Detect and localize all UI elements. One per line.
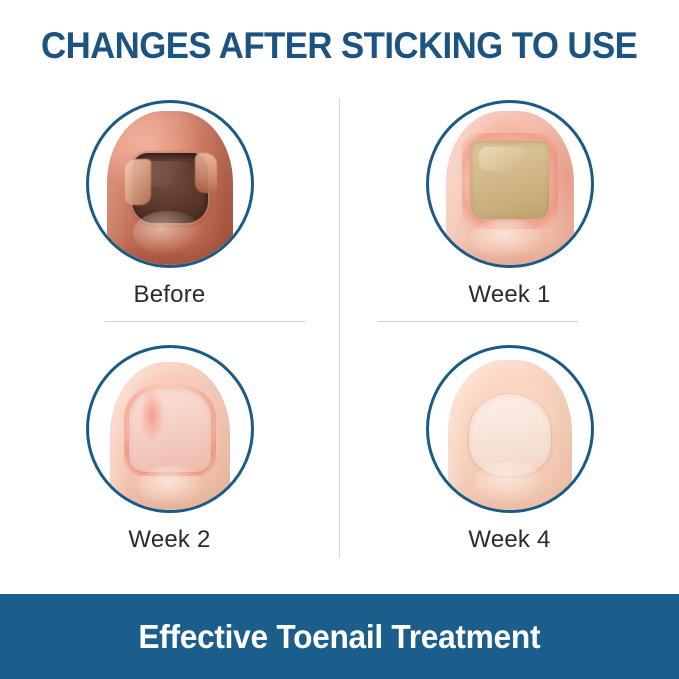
nail-fold-redness-left [140, 388, 164, 442]
nail-damage-right [195, 153, 217, 193]
caption-week-2: Week 2 [128, 526, 210, 554]
nail-plate-week-1 [471, 141, 549, 219]
toe-shape-before [107, 111, 233, 265]
photo-circle-week-1 [426, 100, 594, 268]
toe-shape-week-2 [110, 362, 230, 510]
title-bar: CHANGES AFTER STICKING TO USE [0, 0, 679, 92]
page-title: CHANGES AFTER STICKING TO USE [41, 25, 637, 67]
comparison-cell-week-4: Week 4 [340, 337, 679, 572]
comparison-cell-week-1: Week 1 [340, 92, 679, 327]
toenail-photo-week-1 [429, 103, 591, 265]
horizontal-divider-left [105, 321, 305, 322]
toenail-photo-before [89, 103, 251, 265]
comparison-cell-before: Before [0, 92, 339, 327]
toenail-photo-week-4 [429, 348, 591, 510]
photo-circle-week-2 [86, 345, 254, 513]
toe-shape-week-4 [448, 360, 572, 510]
banner-headline: Effective Toenail Treatment [139, 618, 541, 656]
nail-plate-week-4 [469, 394, 551, 476]
caption-before: Before [134, 281, 206, 309]
nail-damage-left [125, 159, 151, 205]
photo-circle-before [86, 100, 254, 268]
caption-week-4: Week 4 [468, 526, 550, 554]
photo-circle-week-4 [426, 345, 594, 513]
vertical-divider [339, 98, 340, 558]
horizontal-divider-right [378, 321, 578, 322]
bottom-banner: Effective Toenail Treatment [0, 594, 679, 679]
caption-week-1: Week 1 [468, 281, 550, 309]
toenail-photo-week-2 [89, 348, 251, 510]
comparison-cell-week-2: Week 2 [0, 337, 339, 572]
toe-shape-week-1 [446, 111, 574, 265]
